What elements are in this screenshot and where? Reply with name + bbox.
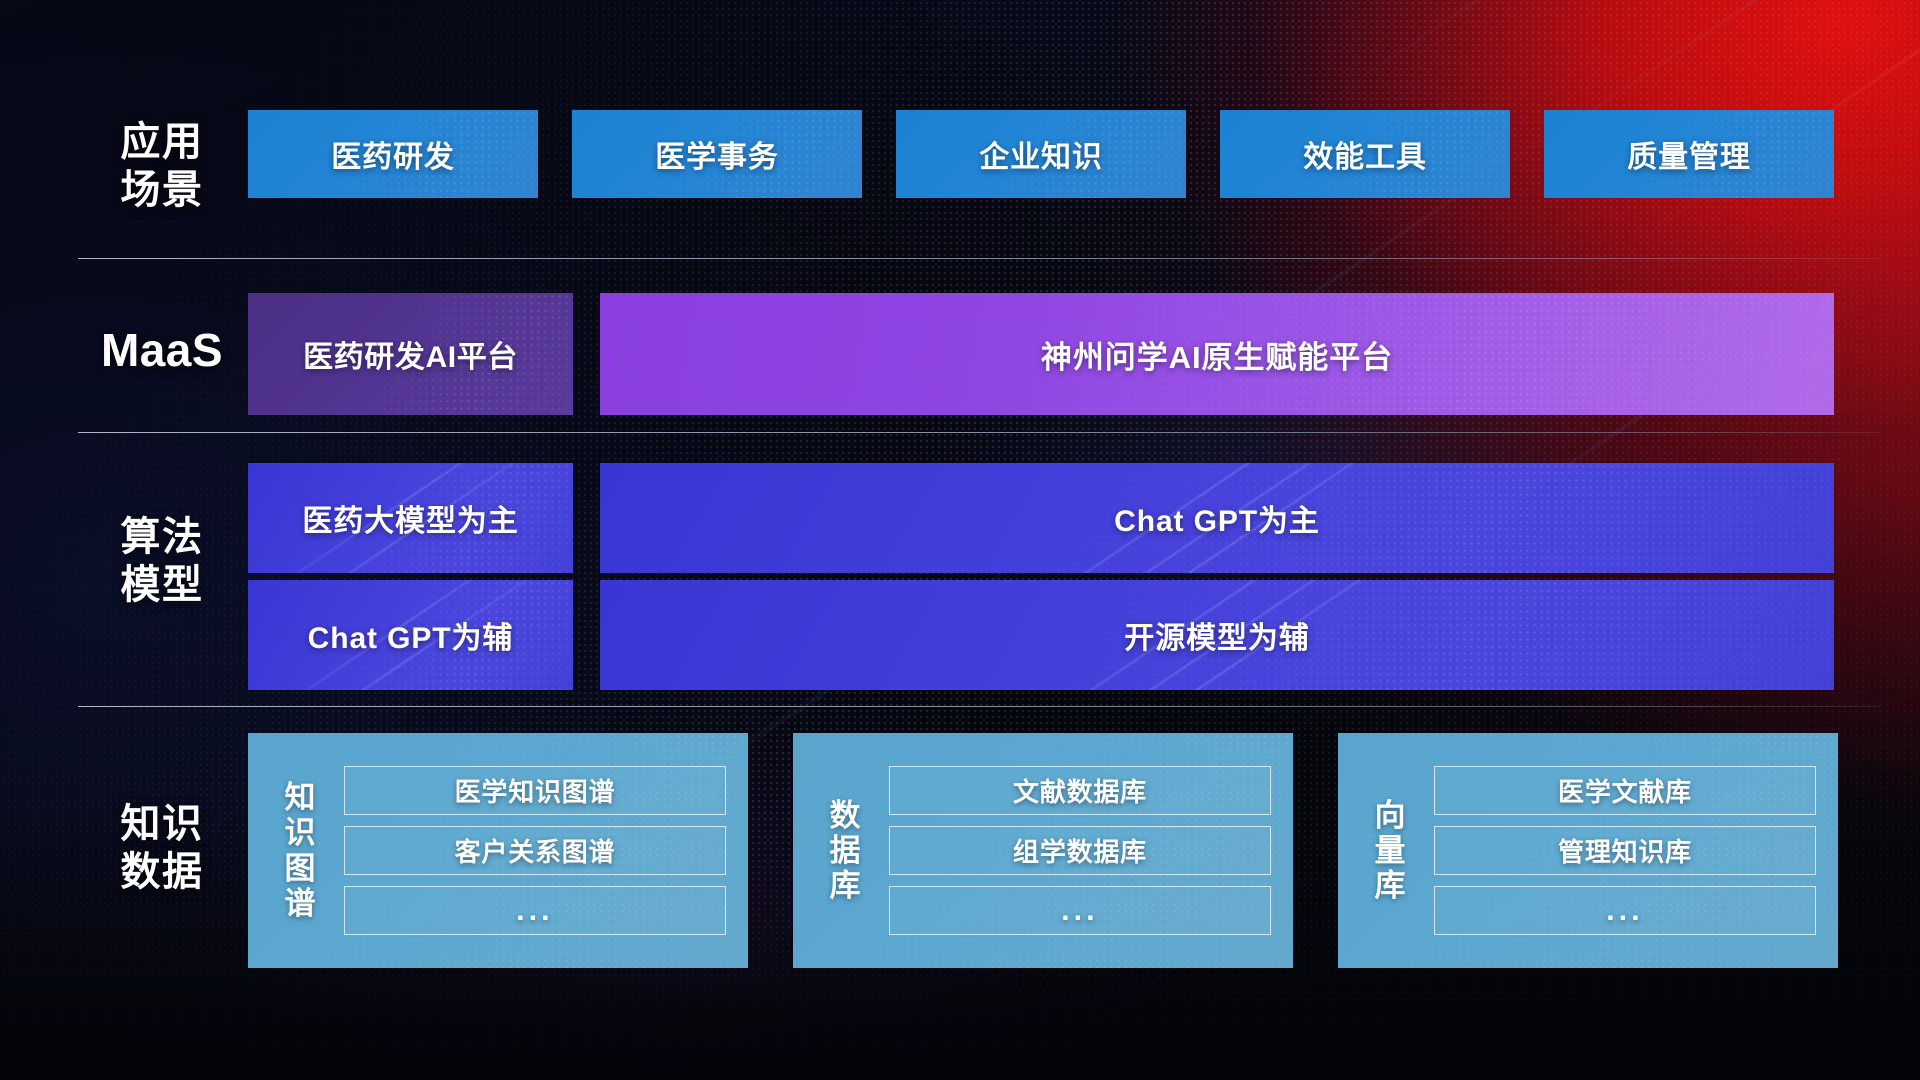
- algo-box-chatgpt-secondary[interactable]: Chat GPT为辅: [248, 580, 573, 690]
- algo-box-label: Chat GPT为辅: [308, 613, 514, 657]
- maas-box-label: 神州问学AI原生赋能平台: [1041, 332, 1393, 377]
- knowledge-item-more[interactable]: ...: [344, 886, 726, 935]
- row-label-application: 应用 场景: [78, 118, 246, 214]
- knowledge-item[interactable]: 组学数据库: [889, 826, 1271, 875]
- algo-box-opensource-secondary[interactable]: 开源模型为辅: [600, 580, 1834, 690]
- divider-algorithm-knowledge: [78, 706, 1880, 707]
- architecture-diagram: 应用 场景 医药研发 医学事务 企业知识 效能工具 质量管理 MaaS 医药研发…: [0, 0, 1920, 1080]
- knowledge-item-more[interactable]: ...: [1434, 886, 1816, 935]
- app-box-medical-affairs[interactable]: 医学事务: [572, 110, 862, 198]
- knowledge-group-knowledge-graph[interactable]: 知 识 图 谱 医学知识图谱 客户关系图谱 ...: [248, 733, 748, 968]
- row-label-knowledge: 知识 数据: [78, 800, 246, 896]
- algo-box-label: 开源模型为辅: [1124, 613, 1309, 657]
- app-box-label: 医学事务: [655, 132, 779, 176]
- maas-box-label: 医药研发AI平台: [303, 332, 518, 376]
- knowledge-group-items: 医学知识图谱 客户关系图谱 ...: [332, 751, 748, 950]
- knowledge-item-more[interactable]: ...: [889, 886, 1271, 935]
- knowledge-group-items: 文献数据库 组学数据库 ...: [877, 751, 1293, 950]
- knowledge-item[interactable]: 医学知识图谱: [344, 766, 726, 815]
- knowledge-item[interactable]: 医学文献库: [1434, 766, 1816, 815]
- divider-maas-algorithm: [78, 432, 1880, 433]
- algo-box-medicine-llm-primary[interactable]: 医药大模型为主: [248, 463, 573, 573]
- app-box-label: 效能工具: [1303, 132, 1427, 176]
- app-box-quality-management[interactable]: 质量管理: [1544, 110, 1834, 198]
- app-box-efficiency-tools[interactable]: 效能工具: [1220, 110, 1510, 198]
- algo-box-label: Chat GPT为主: [1114, 496, 1320, 540]
- algo-box-label: 医药大模型为主: [302, 496, 518, 540]
- knowledge-group-vertical-label: 知 识 图 谱: [268, 780, 332, 921]
- algo-box-chatgpt-primary[interactable]: Chat GPT为主: [600, 463, 1834, 573]
- knowledge-item[interactable]: 文献数据库: [889, 766, 1271, 815]
- row-label-algorithm: 算法 模型: [78, 513, 246, 609]
- app-box-label: 企业知识: [979, 132, 1103, 176]
- knowledge-group-vertical-label: 数 据 库: [813, 798, 877, 904]
- app-box-enterprise-knowledge[interactable]: 企业知识: [896, 110, 1186, 198]
- app-box-label: 医药研发: [331, 132, 455, 176]
- maas-box-shenzhou-wenxue-platform[interactable]: 神州问学AI原生赋能平台: [600, 293, 1834, 415]
- app-box-medicine-rd[interactable]: 医药研发: [248, 110, 538, 198]
- knowledge-item[interactable]: 管理知识库: [1434, 826, 1816, 875]
- knowledge-group-database[interactable]: 数 据 库 文献数据库 组学数据库 ...: [793, 733, 1293, 968]
- knowledge-group-vertical-label: 向 量 库: [1358, 798, 1422, 904]
- knowledge-group-vector-store[interactable]: 向 量 库 医学文献库 管理知识库 ...: [1338, 733, 1838, 968]
- row-label-maas: MaaS: [78, 323, 246, 378]
- divider-application-maas: [78, 258, 1880, 259]
- knowledge-group-items: 医学文献库 管理知识库 ...: [1422, 751, 1838, 950]
- maas-box-medicine-ai-platform[interactable]: 医药研发AI平台: [248, 293, 573, 415]
- app-box-label: 质量管理: [1627, 132, 1751, 176]
- knowledge-item[interactable]: 客户关系图谱: [344, 826, 726, 875]
